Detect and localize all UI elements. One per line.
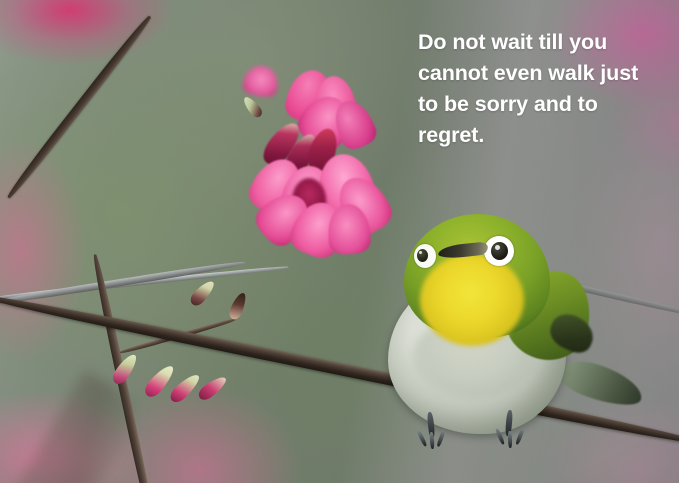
quote-overlay: Do not wait till you cannot even walk ju… bbox=[418, 27, 679, 151]
quote-line-2: cannot even walk just bbox=[418, 58, 679, 89]
quote-line-1: Do not wait till you bbox=[418, 27, 679, 58]
quote-line-4: regret. bbox=[418, 120, 679, 151]
quote-line-3: to be sorry and to bbox=[418, 89, 679, 120]
quote-image-canvas: Do not wait till you cannot even walk ju… bbox=[0, 0, 679, 483]
